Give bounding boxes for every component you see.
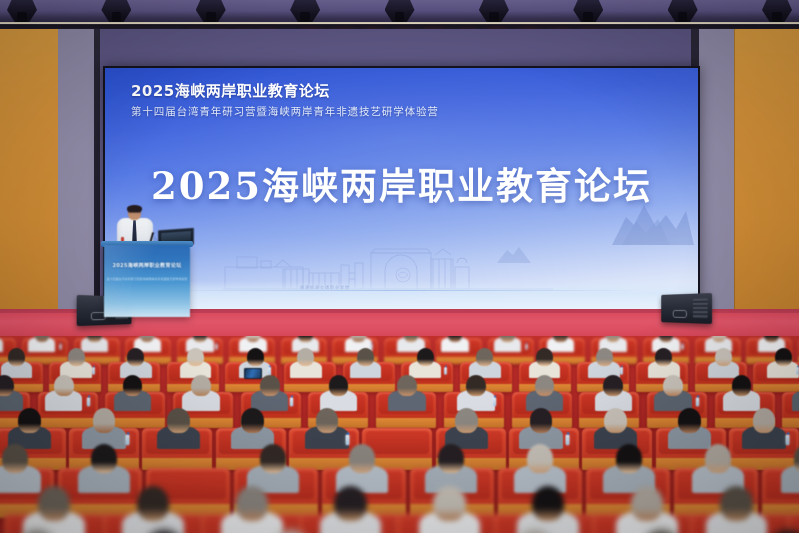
attendee-head	[438, 444, 465, 473]
water-bottle	[290, 398, 293, 407]
conference-hall-photo: 2025 海峡两岸职业教育论坛	[0, 0, 799, 533]
water-bottle	[796, 368, 799, 375]
attendee-head	[616, 444, 643, 473]
attendee-head	[536, 348, 553, 366]
attendee-head	[54, 375, 74, 396]
attendee-head	[530, 408, 553, 433]
water-bottle	[268, 368, 271, 375]
attendee-head	[191, 375, 211, 396]
wall-panel-grey-left	[58, 29, 94, 329]
attendee-head	[663, 375, 683, 396]
water-bottle	[566, 434, 570, 444]
attendee-shoulders	[792, 390, 799, 410]
screen-header-title: 2025海峡两岸职业教育论坛	[131, 80, 330, 101]
attendee-head	[18, 408, 41, 433]
attendee-head	[678, 408, 701, 433]
water-bottle	[681, 344, 683, 350]
attendee-head	[93, 408, 116, 433]
speaker-grille-icon	[693, 298, 708, 318]
attendee-head	[247, 348, 264, 366]
water-bottle	[493, 398, 496, 407]
screen-main-title: 2025海峡两岸职业教育论坛	[105, 156, 698, 210]
water-bottle	[92, 368, 95, 375]
attendee-head	[455, 408, 478, 433]
projection-screen: 福建船政交通职业学院 2025海峡两岸职业教育论坛 第十四届台湾青年研习营暨海峡…	[105, 68, 698, 311]
attendee-phone	[244, 368, 262, 379]
attendee-head	[260, 444, 287, 473]
attendee-head	[596, 348, 613, 366]
attendee-head	[316, 408, 339, 433]
attendee-head	[68, 348, 85, 366]
seat-wood-trim	[782, 418, 799, 428]
attendee-head	[38, 486, 70, 521]
attendee-head	[357, 348, 374, 366]
water-bottle	[696, 398, 699, 407]
attendee-head	[417, 348, 434, 366]
attendee-head	[604, 408, 627, 433]
seat-cushion	[366, 431, 429, 455]
attendee-head	[764, 336, 778, 342]
attendee-head	[351, 336, 365, 342]
wall-panel-grey-right	[699, 29, 735, 329]
projection-screen-frame: 福建船政交通职业学院 2025海峡两岸职业教育论坛 第十四届台湾青年研习营暨海峡…	[103, 66, 700, 313]
seat-wood-trim	[38, 418, 98, 428]
attendee-head	[705, 444, 732, 473]
attendee-head	[167, 408, 190, 433]
attendee-head	[329, 375, 349, 396]
speaker-logo	[673, 310, 687, 318]
attendee-head	[123, 375, 143, 396]
water-bottle	[444, 368, 447, 375]
attendee-head	[137, 486, 169, 521]
attendee-head	[349, 444, 376, 473]
attendee-head	[2, 444, 29, 473]
attendee-head	[476, 348, 493, 366]
water-bottle	[371, 344, 373, 350]
attendee-head	[334, 486, 366, 521]
water-bottle	[620, 368, 623, 375]
presenter-hair	[127, 205, 142, 212]
attendee-head	[187, 348, 204, 366]
screen-header-subtitle: 第十四届台湾青年研习营暨海峡两岸青年非遗技艺研学体验营	[131, 104, 439, 119]
attendee-head	[715, 348, 732, 366]
wall-panel-orange-right	[734, 29, 799, 329]
attendee-head	[732, 375, 752, 396]
stage-monitor-right	[661, 293, 712, 324]
attendee-head	[553, 336, 567, 342]
wall-panel-orange-left	[0, 29, 59, 329]
water-bottle	[786, 434, 790, 444]
attendee-head	[260, 375, 280, 396]
attendee-head	[241, 408, 264, 433]
attendee-head	[720, 486, 752, 521]
attendee-head	[535, 375, 555, 396]
water-bottle	[87, 398, 90, 407]
attendee-head	[127, 348, 144, 366]
attendee-head	[91, 444, 118, 473]
attendee-head	[8, 348, 25, 366]
attendee-head	[753, 408, 776, 433]
attendee-head	[466, 375, 486, 396]
audience-area	[0, 336, 799, 533]
attendee-head	[397, 375, 417, 396]
podium-subline: 第十四届台湾青年研习营暨海峡两岸青年非遗技艺研学体验营	[104, 277, 190, 282]
attendee-head	[603, 375, 623, 396]
attendee-head	[527, 444, 554, 473]
seat-row	[0, 514, 799, 533]
seat-wood-trim	[376, 418, 436, 428]
attendee-head	[655, 348, 672, 366]
attendee-head	[236, 486, 268, 521]
attendee-head	[775, 348, 792, 366]
attendee-head	[631, 486, 663, 521]
seat-wood-trim	[753, 384, 799, 392]
attendee-head	[0, 375, 14, 396]
screen-water-reflection	[105, 281, 698, 311]
water-bottle	[215, 344, 217, 350]
attendee-head	[297, 348, 314, 366]
water-bottle	[346, 434, 350, 444]
podium-headline: 2025海峡两岸职业教育论坛	[104, 262, 190, 269]
attendee-head	[532, 486, 564, 521]
attendee-head	[433, 486, 465, 521]
water-bottle	[126, 434, 130, 444]
podium: 2025海峡两岸职业教育论坛 第十四届台湾青年研习营暨海峡两岸青年非遗技艺研学体…	[104, 245, 190, 317]
